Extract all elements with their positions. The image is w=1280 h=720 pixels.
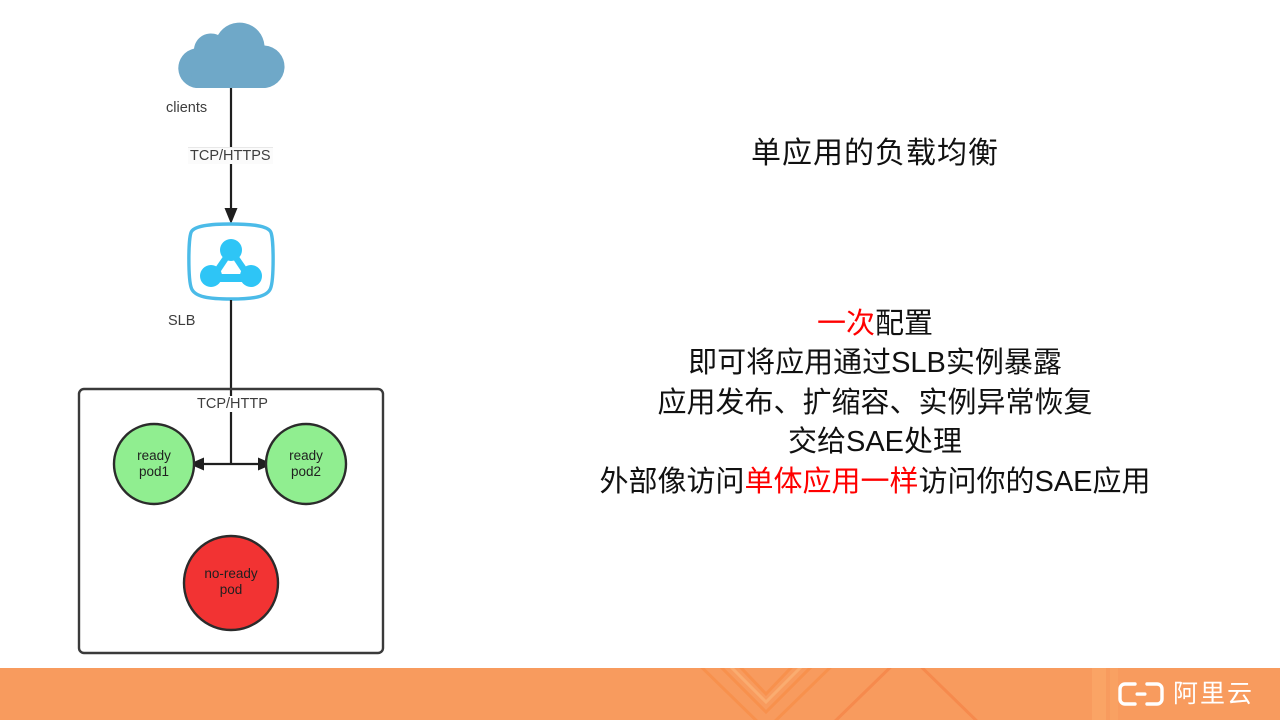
body-line-4: 交给SAE处理 bbox=[470, 423, 1280, 462]
slide-headline: 单应用的负载均衡 bbox=[470, 128, 1280, 172]
body-line-1: 一次配置 bbox=[470, 305, 1280, 344]
cloud-label: clients bbox=[166, 100, 207, 116]
body-line-3: 应用发布、扩缩容、实例异常恢复 bbox=[470, 384, 1280, 423]
architecture-diagram: clients TCP/HTTPS SLB TCP/HTTP ready pod… bbox=[0, 0, 470, 668]
body-line-5-part3: 访问你的SAE应用 bbox=[919, 466, 1151, 498]
aliyun-bracket-icon bbox=[1118, 681, 1164, 707]
text-column: 单应用的负载均衡 一次配置 即可将应用通过SLB实例暴露 应用发布、扩缩容、实例… bbox=[470, 0, 1280, 668]
body-line-2: 即可将应用通过SLB实例暴露 bbox=[470, 344, 1280, 383]
slb-label: SLB bbox=[168, 313, 195, 329]
body-line-5-part1: 外部像访问 bbox=[599, 466, 744, 498]
chevron-decoration bbox=[0, 668, 1280, 720]
link-label-tcp-http: TCP/HTTP bbox=[194, 396, 271, 412]
aliyun-logo: 阿里云 bbox=[1118, 681, 1254, 707]
body-line-1-rest: 配置 bbox=[875, 308, 933, 340]
load-balancer-icon bbox=[189, 224, 273, 299]
cloud-icon bbox=[178, 23, 284, 88]
pod-node-pod1[interactable] bbox=[114, 424, 194, 504]
link-label-tcp-https: TCP/HTTPS bbox=[188, 147, 273, 164]
body-line-5-highlight: 单体应用一样 bbox=[744, 466, 918, 498]
body-text-block: 一次配置 即可将应用通过SLB实例暴露 应用发布、扩缩容、实例异常恢复 交给SA… bbox=[470, 305, 1280, 502]
footer-bar: 阿里云 bbox=[0, 668, 1280, 720]
body-line-5: 外部像访问单体应用一样访问你的SAE应用 bbox=[470, 463, 1280, 502]
body-line-1-highlight: 一次 bbox=[817, 308, 875, 340]
aliyun-logo-text: 阿里云 bbox=[1173, 682, 1254, 707]
pod-node-pod3[interactable] bbox=[184, 536, 278, 630]
diagram-vector-layer bbox=[0, 0, 470, 668]
pod-node-pod2[interactable] bbox=[266, 424, 346, 504]
slide-canvas: clients TCP/HTTPS SLB TCP/HTTP ready pod… bbox=[0, 0, 1280, 720]
